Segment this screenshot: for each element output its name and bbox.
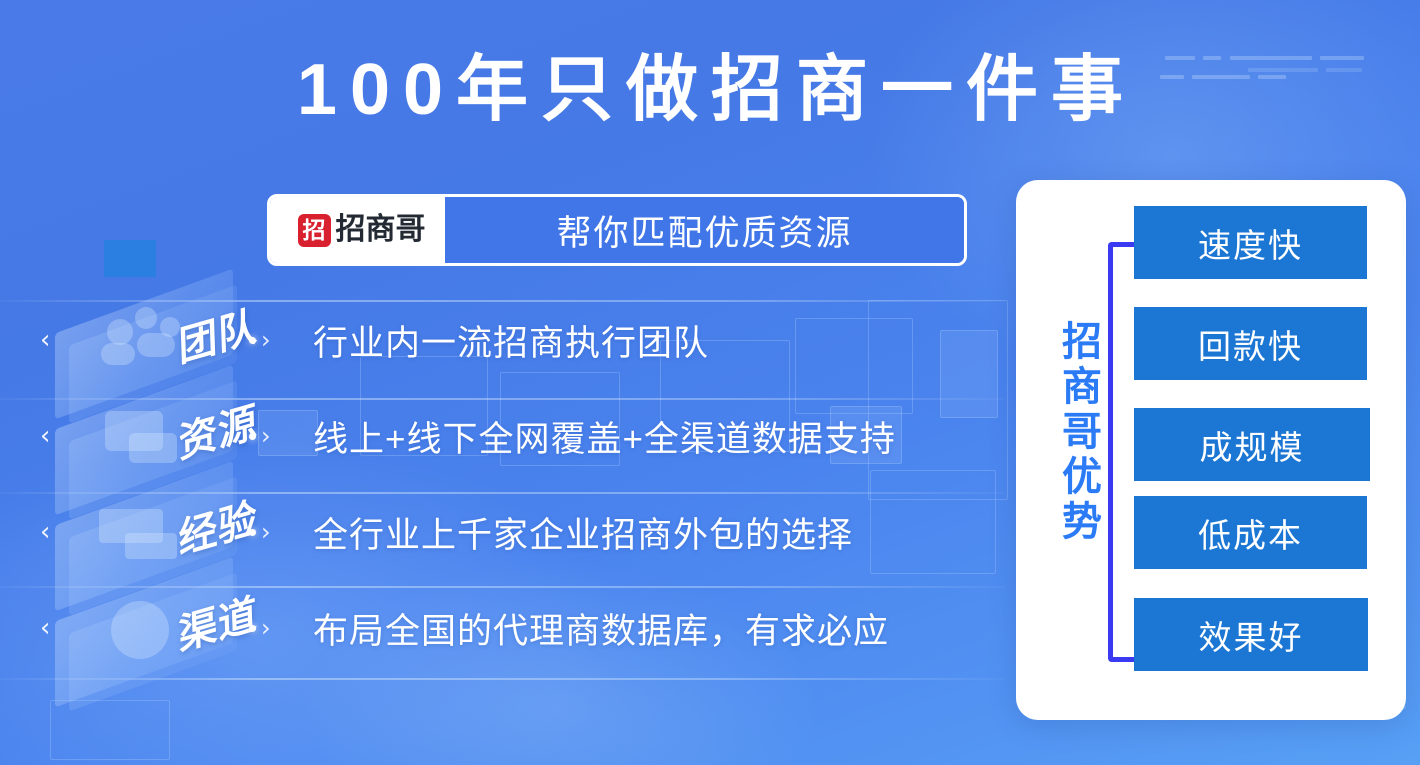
feature-connector: › xyxy=(249,615,305,641)
advantage-title: 招商哥优势 xyxy=(1052,320,1098,545)
advantage-tag[interactable]: 回款快 xyxy=(1134,307,1367,380)
resource-icon xyxy=(129,433,177,463)
advantage-tag[interactable]: 效果好 xyxy=(1134,598,1368,671)
page-title: 100年只做招商一件事 xyxy=(0,50,1420,131)
feature-row: ‹ 经验 › 全行业上千家企业招商外包的选择 xyxy=(0,484,1005,580)
accent-rectangle xyxy=(104,240,156,277)
brand-logo: 招 招商哥 xyxy=(270,197,445,263)
connector-dot-icon xyxy=(249,433,256,440)
circuit-rect xyxy=(50,700,170,760)
chevron-left-icon: ‹ xyxy=(40,425,54,447)
feature-text: 全行业上千家企业招商外包的选择 xyxy=(313,507,853,558)
feature-connector: › xyxy=(249,423,305,449)
brand-logo-text: 招商哥 xyxy=(336,215,426,245)
feature-row: ‹ 团队 › 行业内一流招商执行团队 xyxy=(0,292,1005,388)
advantage-tag-list: 速度快 回款快 成规模 低成本 效果好 xyxy=(1134,206,1390,696)
feature-connector: › xyxy=(249,327,305,353)
connector-dot-icon xyxy=(249,337,256,344)
advantage-tag[interactable]: 成规模 xyxy=(1134,408,1370,481)
chevron-left-icon: ‹ xyxy=(40,329,54,351)
promo-banner: 100年只做招商一件事 招 招商哥 帮你匹配优质资源 ‹ 团队 xyxy=(0,0,1420,765)
chevron-right-icon: › xyxy=(261,520,271,544)
feature-text: 线上+线下全网覆盖+全渠道数据支持 xyxy=(313,411,896,462)
team-icon xyxy=(107,319,133,345)
feature-text: 行业内一流招商执行团队 xyxy=(313,315,709,366)
chevron-right-icon: › xyxy=(261,424,271,448)
connector-dot-icon xyxy=(249,529,256,536)
advantage-tag[interactable]: 速度快 xyxy=(1134,206,1367,279)
chevron-right-icon: › xyxy=(261,616,271,640)
brand-logo-mark-icon: 招 xyxy=(298,214,331,247)
channel-globe-icon xyxy=(111,601,169,659)
feature-text: 布局全国的代理商数据库，有求必应 xyxy=(313,603,889,654)
team-icon xyxy=(137,333,175,357)
feature-list: ‹ 团队 › 行业内一流招商执行团队 ‹ xyxy=(0,292,1005,676)
advantage-tag[interactable]: 低成本 xyxy=(1134,496,1367,569)
team-icon xyxy=(101,343,135,365)
advantage-card: 招商哥优势 速度快 回款快 成规模 低成本 效果好 xyxy=(1016,180,1406,720)
team-icon xyxy=(135,307,157,329)
brand-slogan-text: 帮你匹配优质资源 xyxy=(445,197,964,263)
chevron-left-icon: ‹ xyxy=(40,521,54,543)
chevron-left-icon: ‹ xyxy=(40,617,54,639)
feature-row: ‹ 资源 › 线上+线下全网覆盖+全渠道数据支持 xyxy=(0,388,1005,484)
feature-connector: › xyxy=(249,519,305,545)
feature-row: ‹ 渠道 › 布局全国的代理商数据库，有求必应 xyxy=(0,580,1005,676)
brand-slogan-bar: 招 招商哥 帮你匹配优质资源 xyxy=(267,194,967,266)
chevron-right-icon: › xyxy=(261,328,271,352)
experience-icon xyxy=(125,533,177,559)
connector-dot-icon xyxy=(249,625,256,632)
